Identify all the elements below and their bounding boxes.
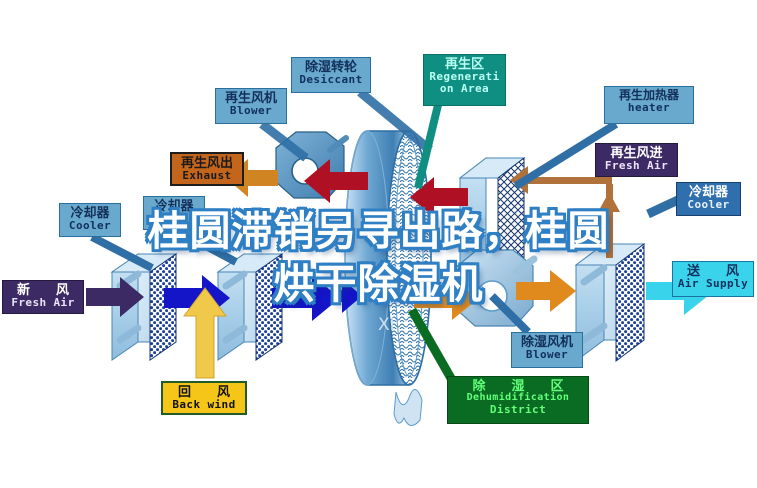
label-en-2: on Area xyxy=(427,83,502,95)
label-exhaust: 再生风出Exhaust xyxy=(170,152,244,186)
label-fresh-air-inlet: 新风Fresh Air xyxy=(2,280,84,314)
label-cn: 再生风机 xyxy=(219,91,283,105)
diagram-canvas: XI xyxy=(0,0,757,488)
label-cn: 除湿转轮 xyxy=(295,60,367,74)
label-dehumidification-district: 除湿区DehumidificationDistrict xyxy=(447,376,589,424)
label-cn: 新风 xyxy=(6,283,80,297)
label-cn: 冷却器 xyxy=(680,185,737,199)
label-back-wind: 回风Back wind xyxy=(161,381,247,415)
label-cn: 冷却器 xyxy=(147,199,201,213)
label-cn: 再生风进 xyxy=(599,146,674,160)
label-en: Cooler xyxy=(147,213,201,225)
label-en: Exhaust xyxy=(175,170,239,182)
label-cooler-left-a: 冷却器Cooler xyxy=(59,203,121,237)
label-cn: 送风 xyxy=(676,264,750,278)
label-regeneration-blower: 再生风机Blower xyxy=(215,88,287,124)
label-en: Fresh Air xyxy=(599,160,674,172)
label-en-2: District xyxy=(451,404,585,416)
label-en: Air Supply xyxy=(676,278,750,290)
label-en: heater xyxy=(608,102,690,114)
label-en: Cooler xyxy=(680,199,737,211)
label-cn: 再生区 xyxy=(427,57,502,71)
label-cooler-left-b: 冷却器Cooler xyxy=(143,196,205,230)
label-air-supply: 送风Air Supply xyxy=(672,261,754,297)
label-en: Back wind xyxy=(166,399,242,411)
label-en: Fresh Air xyxy=(6,297,80,309)
label-regeneration-heater: 再生加热器heater xyxy=(604,86,694,124)
label-cn: 冷却器 xyxy=(63,206,117,220)
label-en: Desiccant xyxy=(295,74,367,86)
label-cooler-right: 冷却器Cooler xyxy=(676,182,741,216)
dehumidifier-schematic: XI xyxy=(0,0,757,488)
rotor-watermark: XI xyxy=(378,315,395,335)
label-cn: 再生风出 xyxy=(175,156,239,170)
label-regeneration-fresh-air: 再生风进Fresh Air xyxy=(595,143,678,177)
label-cn: 回风 xyxy=(166,385,242,399)
pipe-heater-bottom xyxy=(465,300,493,306)
label-regeneration-area: 再生区Regeneration Area xyxy=(423,54,506,106)
label-cn: 除湿风机 xyxy=(515,335,579,349)
label-cn: 除湿区 xyxy=(451,379,585,393)
label-cn: 再生加热器 xyxy=(608,89,690,102)
label-dehumidify-blower: 除湿风机Blower xyxy=(511,332,583,368)
label-en: Blower xyxy=(219,105,283,117)
label-desiccant-wheel: 除湿转轮Desiccant xyxy=(291,57,371,93)
label-en: Cooler xyxy=(63,220,117,232)
label-en: Blower xyxy=(515,349,579,361)
